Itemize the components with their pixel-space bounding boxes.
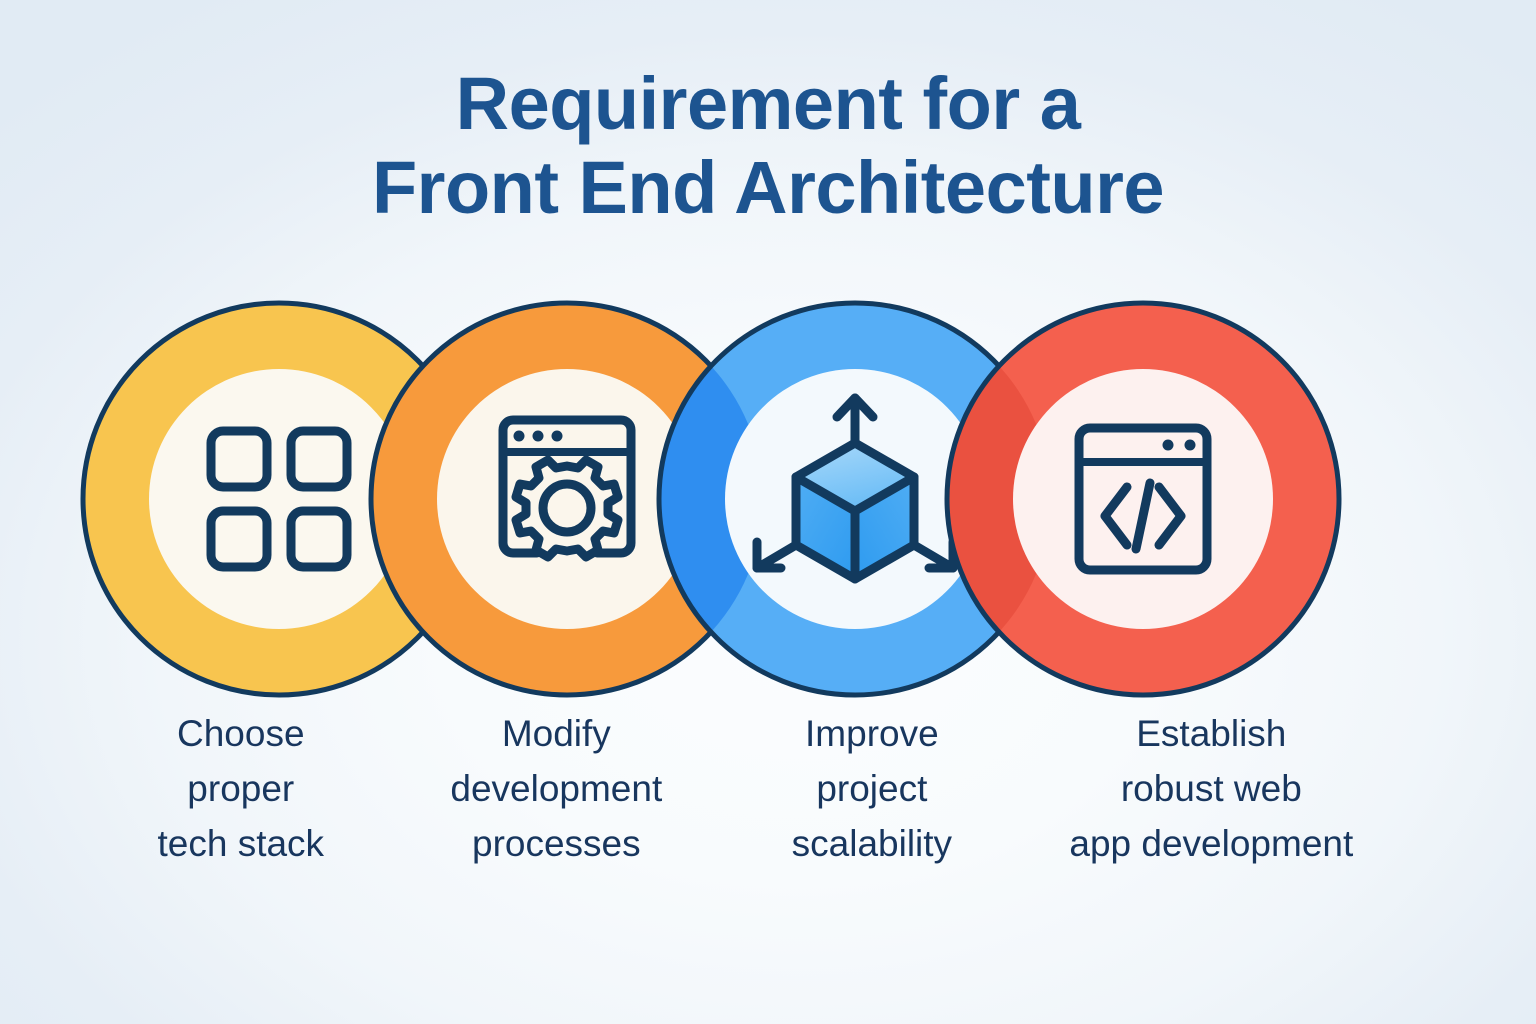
infographic-root: Requirement for a Front End Architecture bbox=[0, 0, 1536, 1024]
captions-row: Choose proper tech stack Modify developm… bbox=[83, 706, 1393, 871]
gear-center bbox=[543, 484, 591, 532]
window-dot bbox=[552, 431, 563, 442]
caption-establish-web-app: Establish robust web app development bbox=[1030, 706, 1393, 871]
window-dot bbox=[514, 431, 525, 442]
caption-improve-scalability: Improve project scalability bbox=[714, 706, 1030, 871]
window-dot bbox=[1163, 440, 1174, 451]
window-dot bbox=[533, 431, 544, 442]
caption-choose-tech-stack: Choose proper tech stack bbox=[83, 706, 399, 871]
caption-modify-dev-processes: Modify development processes bbox=[399, 706, 715, 871]
window-dot bbox=[1185, 440, 1196, 451]
